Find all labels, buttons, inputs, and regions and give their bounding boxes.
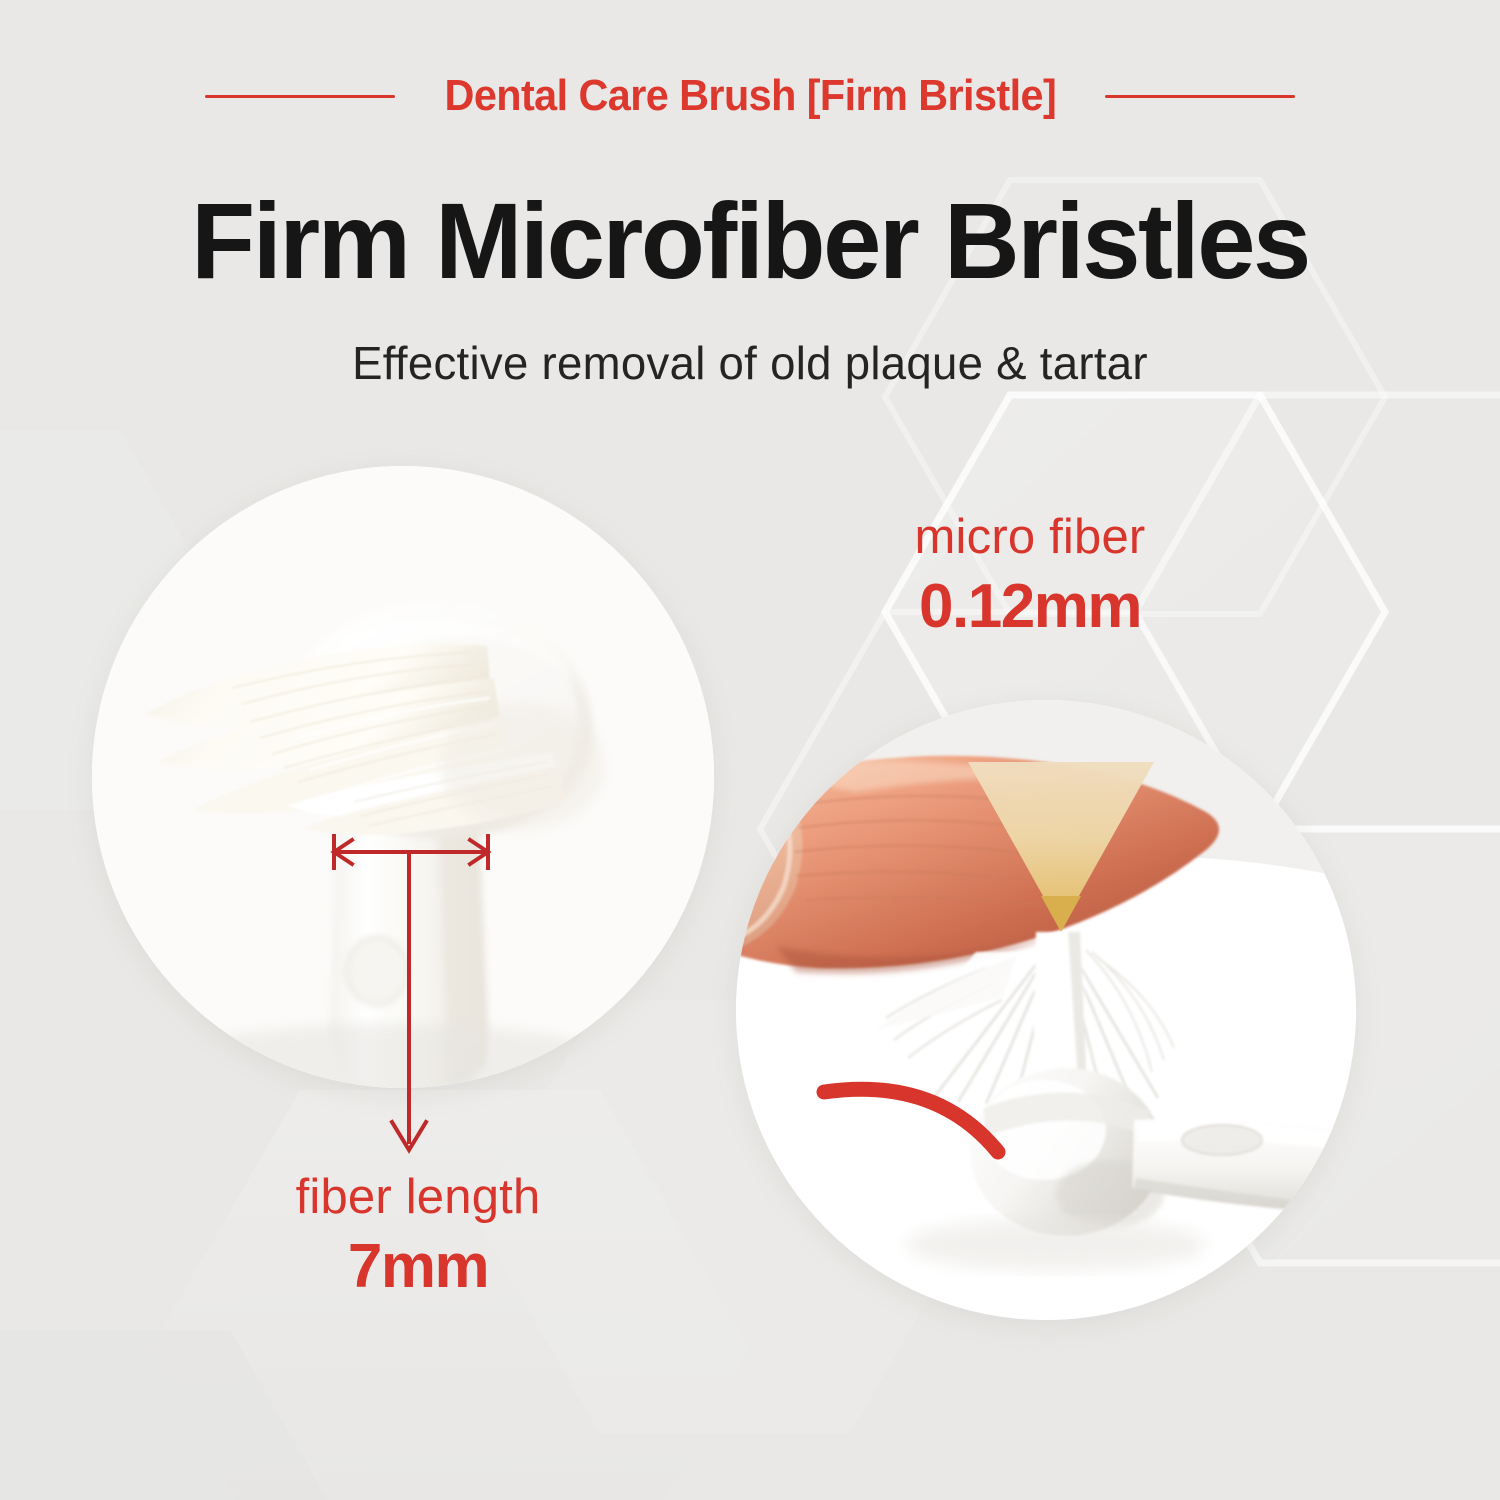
eyebrow-rule-right — [1105, 95, 1295, 98]
brush-head-photo — [92, 466, 714, 1088]
callout-fiber-length: fiber length 7mm — [228, 1172, 608, 1303]
brush-head-illustration — [92, 466, 714, 1088]
eyebrow-row: Dental Care Brush [Firm Bristle] — [0, 74, 1500, 118]
callout-fiber-length-caption: fiber length — [228, 1172, 608, 1223]
arrowhead-down — [392, 1122, 426, 1150]
callout-micro-fiber-caption: micro fiber — [850, 512, 1210, 563]
callout-micro-fiber-value: 0.12mm — [850, 571, 1210, 642]
page-subtitle: Effective removal of old plaque & tartar — [8, 337, 1493, 390]
callout-micro-fiber: micro fiber 0.12mm — [850, 512, 1210, 643]
callout-fiber-length-value: 7mm — [228, 1231, 608, 1302]
page-title: Firm Microfiber Bristles — [23, 186, 1478, 296]
finger-press-illustration — [736, 700, 1356, 1320]
infographic-page: Dental Care Brush [Firm Bristle] Firm Mi… — [0, 0, 1500, 1500]
eyebrow-rule-left — [205, 95, 395, 98]
finger-press-photo — [736, 700, 1356, 1320]
hexagon-shape — [0, 1330, 365, 1500]
eyebrow-label: Dental Care Brush [Firm Bristle] — [444, 74, 1056, 118]
